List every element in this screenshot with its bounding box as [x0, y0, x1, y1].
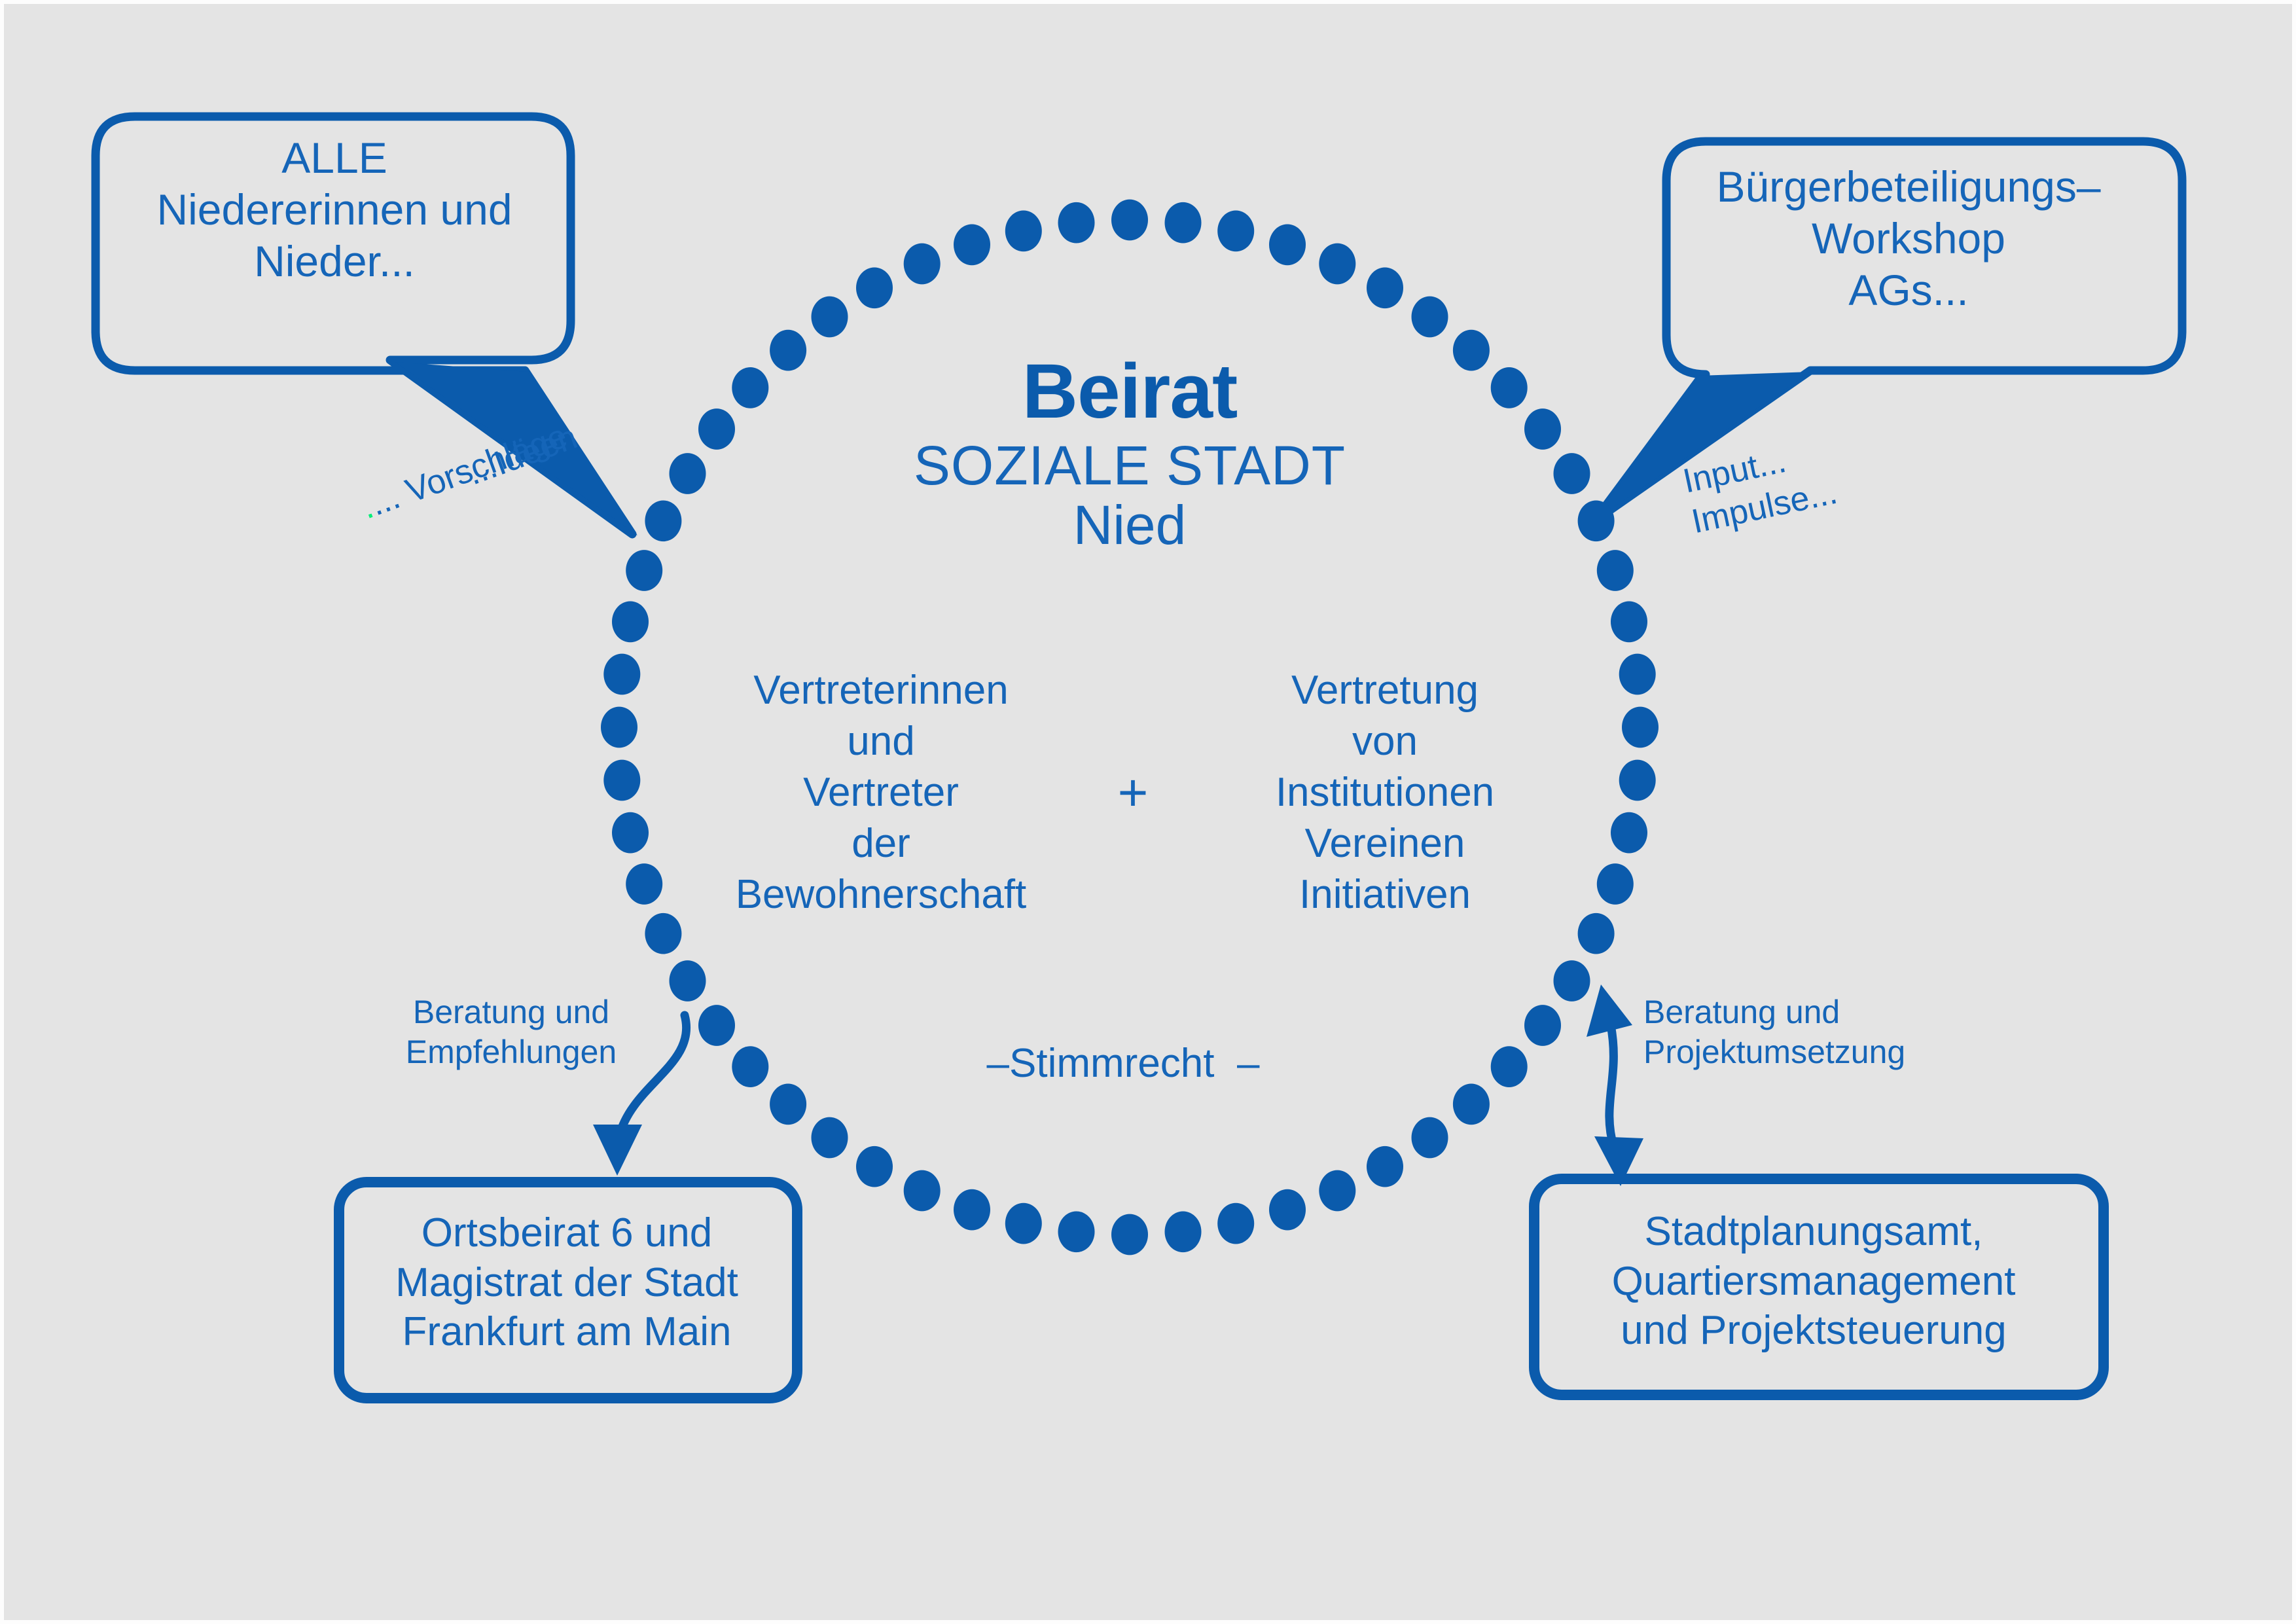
circle-dot: [1367, 267, 1403, 308]
annotation-input-impulse: Input... Impulse...: [1679, 431, 1841, 543]
bubble-tr-line-2: Workshop: [1679, 213, 2138, 264]
annotation-beratung-l-line-2: Empfehlungen: [380, 1032, 642, 1072]
center-title-block: Beirat SOZIALE STADT Nied: [763, 351, 1496, 554]
bubble-top-right-text: Bürgerbeteiligungs– Workshop AGs...: [1679, 161, 2138, 317]
circle-dot: [1554, 453, 1590, 494]
subtitle-line-1: SOZIALE STADT: [763, 437, 1496, 495]
arrowhead-down-right: [1594, 1136, 1643, 1186]
col-left-line-1: Vertreterinnen: [698, 665, 1064, 716]
annotation-beratung-r-line-2: Projektumsetzung: [1643, 1032, 1951, 1072]
column-bewohnerschaft: Vertreterinnen und Vertreter der Bewohne…: [698, 665, 1064, 921]
circle-dot: [626, 863, 662, 905]
circle-dot: [1165, 1211, 1202, 1252]
circle-dot: [904, 244, 941, 285]
col-right-line-2: von: [1202, 716, 1568, 767]
circle-dot: [1611, 812, 1647, 854]
circle-dot: [1058, 1211, 1095, 1252]
circle-dot: [612, 602, 649, 643]
circle-dot: [954, 225, 990, 266]
col-left-line-2: und: [698, 716, 1064, 767]
circle-dot: [1005, 1203, 1042, 1244]
circle-dot: [1611, 602, 1647, 643]
box-br-line-2: Quartiersmanagement: [1529, 1257, 2098, 1307]
circle-dot: [1491, 1046, 1528, 1087]
circle-dot: [732, 1046, 768, 1087]
circle-dot: [1412, 1117, 1448, 1159]
circle-dot: [1619, 654, 1656, 695]
arrowhead-up-right: [1587, 984, 1632, 1037]
subtitle-line-2: Nied: [763, 496, 1496, 554]
circle-dot: [954, 1189, 990, 1231]
circle-dot: [1269, 1189, 1306, 1231]
annotation-vorschlaege-label: Vorschläge: [401, 417, 573, 511]
bubble-top-left-text: ALLE Niedererinnen und Nieder...: [96, 132, 573, 288]
circle-dot: [1058, 202, 1095, 244]
bubble-tl-line-3: Nieder...: [96, 236, 573, 287]
box-br-line-3: und Projektsteuerung: [1529, 1306, 2098, 1356]
stimmrecht-label: –Stimmrecht –: [907, 1040, 1339, 1087]
annotation-beratung-l-line-1: Beratung und: [380, 992, 642, 1032]
circle-dot: [645, 500, 681, 541]
circle-dot: [1111, 200, 1148, 241]
box-bl-line-1: Ortsbeirat 6 und: [331, 1208, 802, 1258]
bubble-tl-line-2: Niedererinnen und: [96, 184, 573, 236]
circle-dot: [770, 1084, 806, 1125]
box-bl-line-3: Frankfurt am Main: [331, 1307, 802, 1357]
col-left-line-5: Bewohnerschaft: [698, 869, 1064, 920]
circle-dot: [1622, 707, 1659, 748]
circle-dot: [1165, 202, 1202, 244]
page-title: Beirat: [763, 351, 1496, 433]
col-right-line-3: Institutionen: [1202, 767, 1568, 818]
circle-dot: [698, 408, 735, 450]
circle-dot: [698, 1005, 735, 1046]
circle-dot: [1597, 550, 1634, 591]
circle-dot: [1578, 913, 1615, 954]
box-bl-line-2: Magistrat der Stadt: [331, 1258, 802, 1308]
circle-dot: [1217, 1203, 1254, 1244]
circle-dot: [1554, 960, 1590, 1001]
circle-dot: [670, 453, 706, 494]
column-institutionen: Vertretung von Institutionen Vereinen In…: [1202, 665, 1568, 921]
arrow-beratung-projektumsetzung: [1609, 1025, 1614, 1148]
annotation-beratung-projektumsetzung: Beratung und Projektumsetzung: [1643, 992, 1951, 1072]
circle-dot: [612, 812, 649, 854]
circle-dot: [603, 654, 640, 695]
center-columns: Vertreterinnen und Vertreter der Bewohne…: [698, 665, 1568, 921]
circle-dot: [670, 960, 706, 1001]
bubble-tr-line-3: AGs...: [1679, 264, 2138, 316]
annotation-beratung-r-line-1: Beratung und: [1643, 992, 1951, 1032]
bubble-tl-line-1: ALLE: [96, 132, 573, 184]
circle-dot: [812, 1117, 848, 1159]
circle-dot: [1319, 1170, 1355, 1212]
circle-dot: [601, 707, 637, 748]
arrowhead-down-left: [593, 1125, 642, 1176]
circle-dot: [1269, 225, 1306, 266]
annotation-vorschlaege: .... Vorschläge: [356, 416, 573, 528]
circle-dot: [812, 297, 848, 338]
circle-dot: [1524, 408, 1561, 450]
circle-dot: [1111, 1214, 1148, 1255]
circle-dot: [904, 1170, 941, 1212]
annotation-beratung-empfehlungen: Beratung und Empfehlungen: [380, 992, 642, 1072]
plus-operator: +: [1100, 767, 1166, 819]
circle-dot: [626, 550, 662, 591]
box-bottom-right-text: Stadtplanungsamt, Quartiersmanagement un…: [1529, 1207, 2098, 1356]
circle-dot: [1597, 863, 1634, 905]
col-left-line-4: der: [698, 818, 1064, 869]
circle-dot: [603, 760, 640, 801]
circle-dot: [1619, 760, 1656, 801]
circle-dot: [1217, 211, 1254, 252]
circle-dot: [856, 1146, 893, 1187]
circle-dot: [1319, 244, 1355, 285]
circle-dot: [856, 267, 893, 308]
box-bottom-left-text: Ortsbeirat 6 und Magistrat der Stadt Fra…: [331, 1208, 802, 1357]
circle-dot: [1412, 297, 1448, 338]
box-br-line-1: Stadtplanungsamt,: [1529, 1207, 2098, 1257]
circle-dot: [1524, 1005, 1561, 1046]
circle-dot: [1491, 367, 1528, 408]
circle-dot: [1453, 1084, 1490, 1125]
col-left-line-3: Vertreter: [698, 767, 1064, 818]
bubble-tr-line-1: Bürgerbeteiligungs–: [1679, 161, 2138, 213]
col-right-line-5: Initiativen: [1202, 869, 1568, 920]
circle-dot: [1367, 1146, 1403, 1187]
col-right-line-4: Vereinen: [1202, 818, 1568, 869]
circle-dot: [645, 913, 681, 954]
circle-dot: [1578, 500, 1615, 541]
circle-dot: [1005, 211, 1042, 252]
col-right-line-1: Vertretung: [1202, 665, 1568, 716]
diagram-canvas: Beirat SOZIALE STADT Nied Vertreterinnen…: [0, 0, 2296, 1624]
